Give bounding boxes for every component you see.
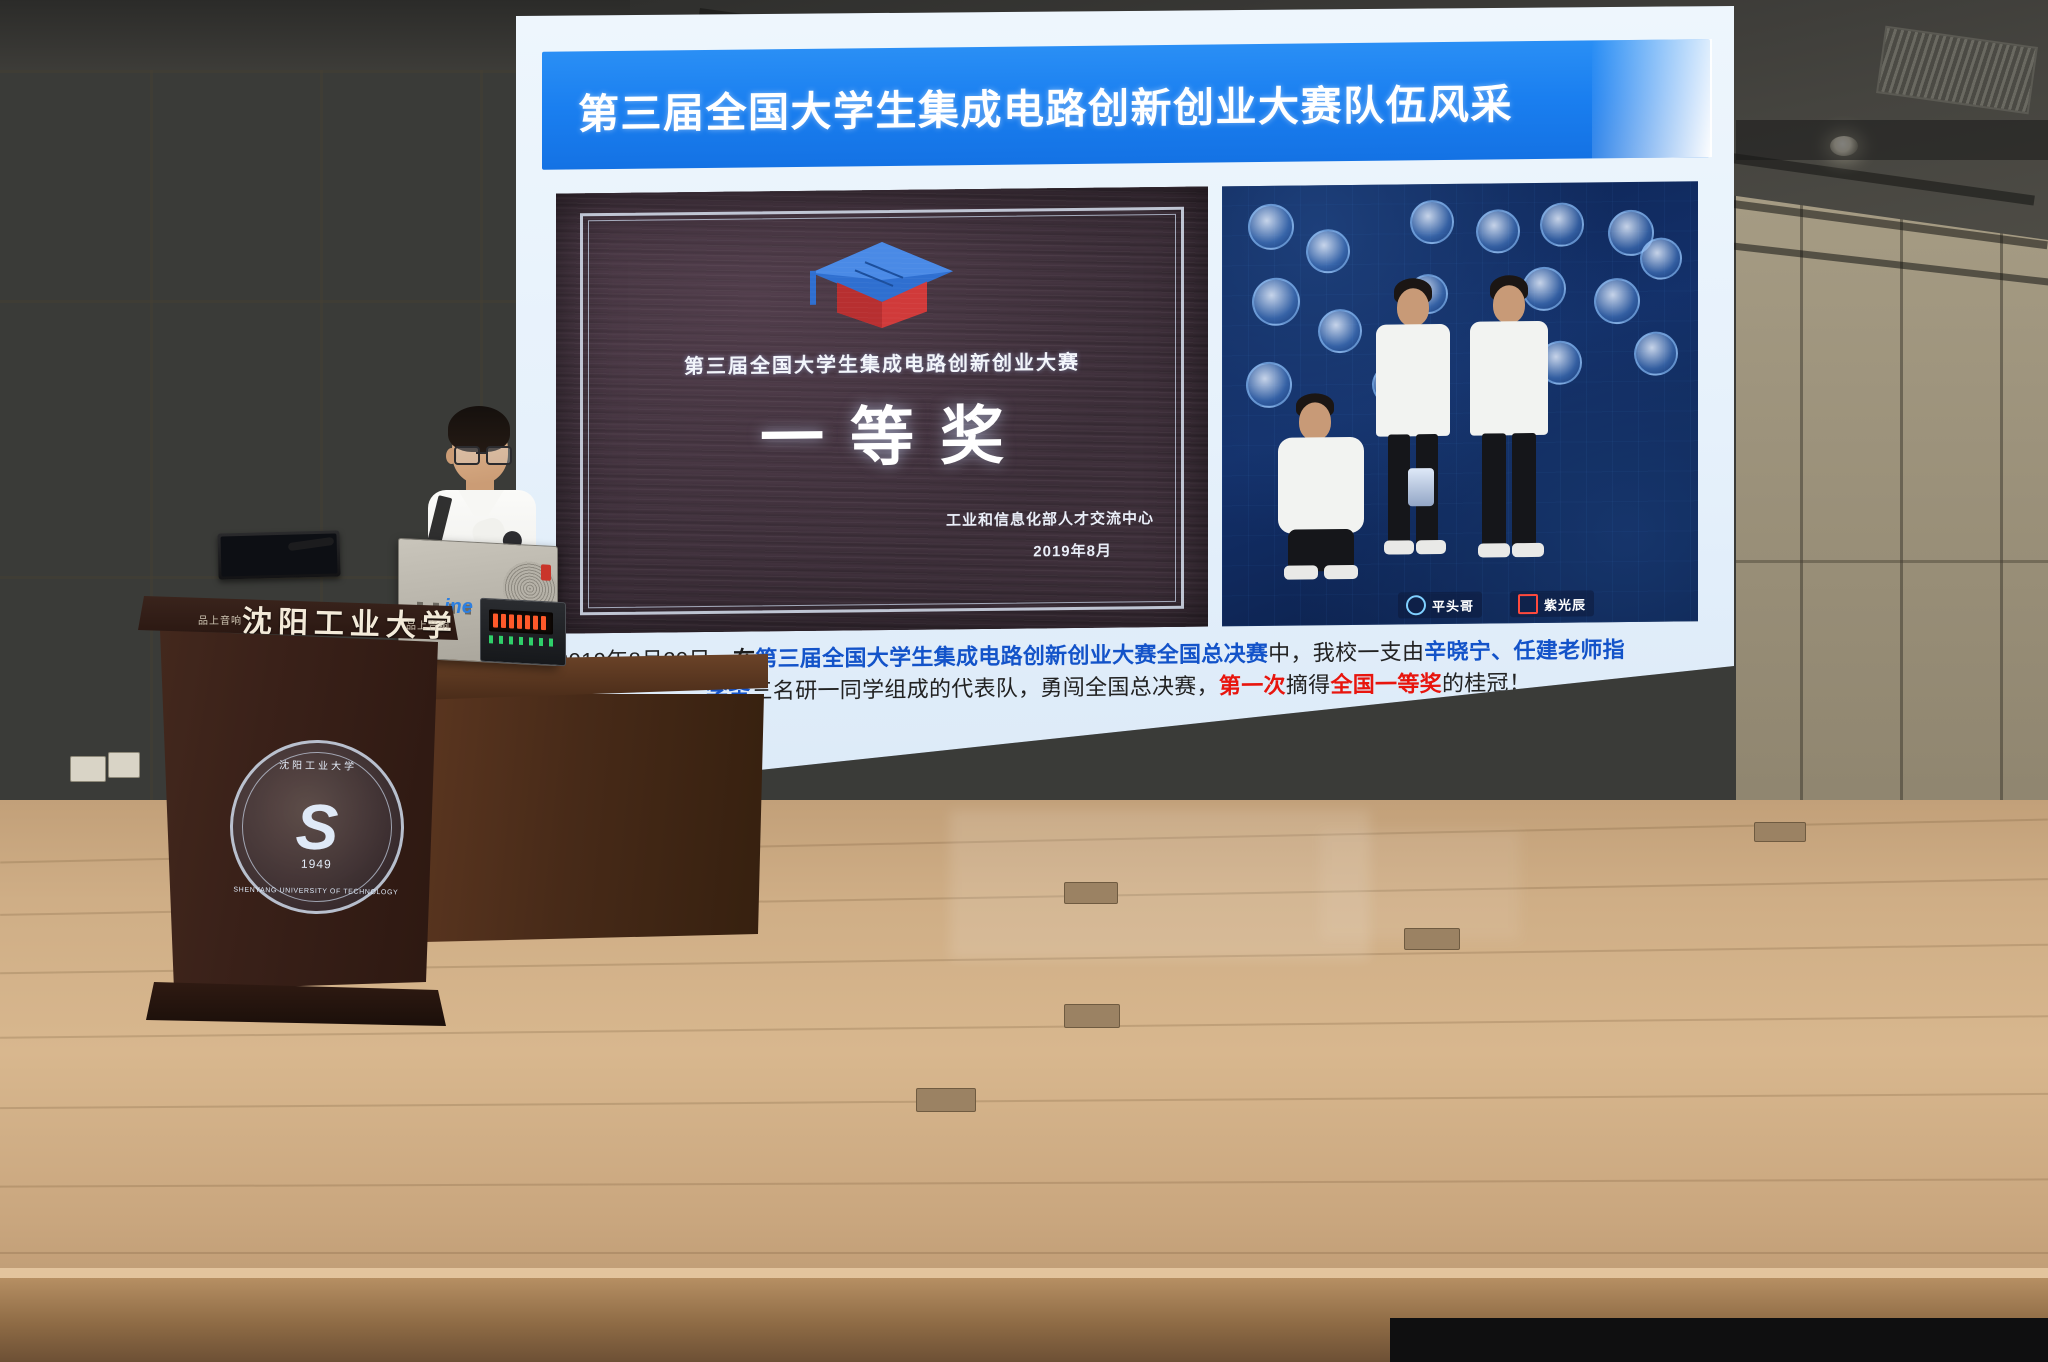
backdrop-medal — [1634, 331, 1678, 375]
graduation-cap-icon — [807, 235, 957, 333]
sponsor-label-left: 平头哥 — [1432, 595, 1474, 614]
certificate-date: 2019年8月 — [1033, 540, 1112, 562]
head — [1493, 285, 1525, 323]
emblem-bottom-text: SHENYANG UNIVERSITY OF TECHNOLOGY — [232, 887, 400, 897]
backdrop-medal — [1540, 202, 1584, 246]
floor-plank-line — [0, 1178, 2048, 1187]
leg — [1388, 434, 1410, 544]
wall-seam — [0, 300, 520, 303]
team-member-crouching — [1270, 393, 1390, 590]
screen-reflection — [950, 810, 1370, 960]
podium-brandmark-left: 品上音响 — [198, 612, 242, 627]
sponsor-label-right: 紫光辰 — [1544, 594, 1586, 613]
shoe — [1478, 543, 1510, 557]
certificate-heading: 第三届全国大学生集成电路创新创业大赛 — [556, 345, 1208, 381]
slide-body: 第三届全国大学生集成电路创新创业大赛 一等奖 工业和信息化部人才交流中心 201… — [556, 181, 1698, 633]
torso — [1278, 437, 1364, 534]
certificate-prize: 一等奖 — [556, 383, 1208, 482]
caption-l2c: 第一次 — [1219, 673, 1286, 699]
caption-l1d: 辛晓宁、任建老师指 — [1424, 637, 1625, 664]
wall-seam — [2000, 180, 2003, 850]
shoe — [1512, 543, 1544, 557]
torso — [1470, 321, 1548, 436]
backdrop-medal — [1640, 237, 1682, 279]
floor-socket[interactable] — [1754, 822, 1806, 842]
audio-processor[interactable] — [480, 598, 566, 667]
wall-outlet[interactable] — [108, 752, 140, 778]
backdrop-medal — [1410, 200, 1454, 244]
floor-below-stage — [1390, 1318, 2048, 1362]
sponsor-mark-icon — [1406, 595, 1426, 615]
leg — [1512, 433, 1536, 547]
emblem-year: 1949 — [232, 856, 400, 873]
wall-seam — [1800, 160, 1803, 850]
slide-title-bar: 第三届全国大学生集成电路创新创业大赛队伍风采 — [542, 39, 1710, 170]
floor-socket[interactable] — [1064, 882, 1118, 904]
backdrop-medal — [1252, 278, 1300, 327]
shoe — [1324, 565, 1358, 579]
wall-seam — [1736, 560, 2048, 563]
glasses-lens — [486, 446, 512, 465]
wall-outlet[interactable] — [70, 756, 106, 782]
auditorium-scene: 第三届全国大学生集成电路创新创业大赛队伍风采 — [0, 0, 2048, 1362]
podium-base — [146, 982, 446, 1026]
lectern-podium: 沈阳工业大学 S 1949 SHENYANG UNIVERSITY OF TEC… — [138, 596, 458, 1032]
table-front-panel — [418, 694, 764, 942]
certificate-frame-outer — [580, 207, 1184, 616]
floor-plank-line — [0, 1252, 2048, 1254]
backdrop-medal — [1318, 309, 1362, 353]
ceiling-edge — [1736, 120, 2048, 160]
floor-socket[interactable] — [1064, 1004, 1120, 1028]
glasses-lens — [454, 446, 480, 465]
podium-body: 沈阳工业大学 S 1949 SHENYANG UNIVERSITY OF TEC… — [160, 630, 438, 990]
caption-l1c: 中，我校一支由 — [1268, 639, 1424, 666]
sponsor-mark-icon — [1518, 594, 1538, 614]
eyeglasses-icon — [454, 446, 508, 462]
certificate-issuer: 工业和信息化部人才交流中心 — [946, 507, 1154, 530]
certificate-frame-inner — [588, 214, 1176, 608]
leg — [1482, 433, 1506, 547]
caption-l2b: 三名研一同学组成的代表队，勇闯全国总决赛， — [751, 673, 1219, 703]
glasses-bridge — [476, 452, 486, 454]
head — [1397, 288, 1429, 326]
power-button[interactable] — [541, 564, 551, 581]
podium-brandmark-right: 品上音响 — [406, 617, 450, 632]
sponsor-badge-right: 紫光辰 — [1510, 590, 1594, 617]
wall-seam — [0, 70, 520, 73]
caption-l2d: 摘得 — [1286, 672, 1331, 697]
title-bar-gradient-tail — [1592, 39, 1712, 158]
university-emblem: 沈阳工业大学 S 1949 SHENYANG UNIVERSITY OF TEC… — [228, 738, 405, 915]
shoe — [1284, 565, 1318, 579]
presentation-table — [418, 654, 768, 944]
caption-l2e: 全国一等奖 — [1330, 671, 1442, 697]
team-member-standing — [1458, 275, 1558, 580]
screen-reflection — [1320, 830, 1520, 940]
floor-socket[interactable] — [1404, 928, 1460, 950]
emblem-top-text: 沈阳工业大学 — [234, 756, 402, 774]
sponsor-badge-left: 平头哥 — [1398, 592, 1482, 619]
trophy-icon — [1408, 468, 1434, 506]
certificate-image: 第三届全国大学生集成电路创新创业大赛 一等奖 工业和信息化部人才交流中心 201… — [556, 187, 1208, 634]
led-display — [489, 609, 553, 634]
backdrop-medal — [1476, 209, 1520, 253]
team-photo: 平头哥 紫光辰 — [1222, 181, 1698, 626]
head — [1299, 402, 1331, 440]
backdrop-medal — [1306, 229, 1350, 273]
graduation-cap-wrap — [556, 233, 1208, 336]
slide-title: 第三届全国大学生集成电路创新创业大赛队伍风采 — [578, 70, 1513, 140]
floor-socket[interactable] — [916, 1088, 976, 1112]
wall-seam — [1900, 170, 1903, 850]
caption-l1b: 第三届全国大学生集成电路创新创业大赛全国总决赛 — [755, 641, 1268, 672]
led-indicator-row — [489, 635, 553, 646]
shoe — [1416, 540, 1446, 554]
floor-plank-line — [0, 1093, 2048, 1109]
emblem-inner-ring — [241, 751, 394, 904]
